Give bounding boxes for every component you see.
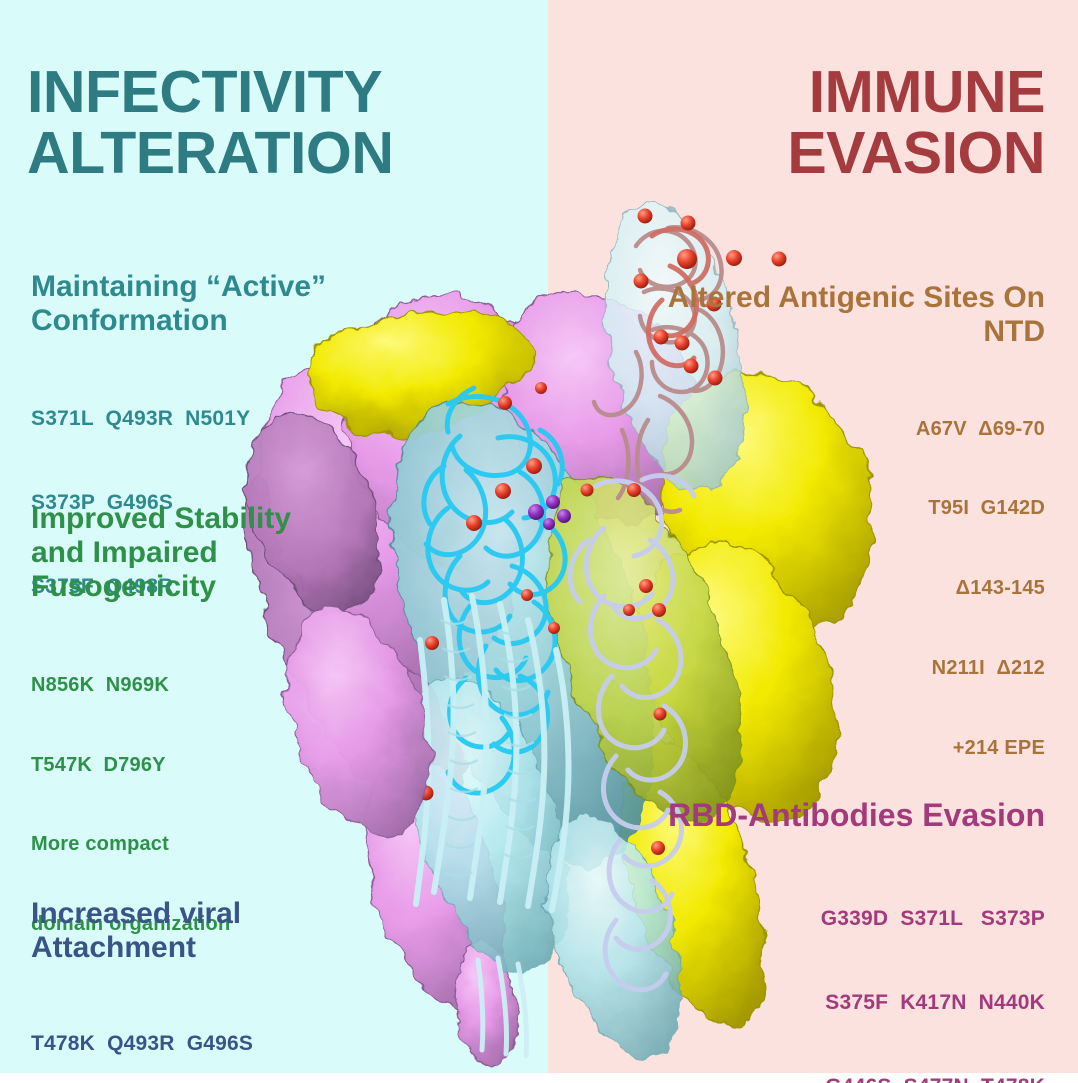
- mutation-line: Δ143-145: [645, 575, 1045, 602]
- mutation-list-increased-viral-attachment: T478K Q493R G496S Q498R N501Y: [31, 974, 351, 1083]
- note-line: More compact: [31, 831, 331, 858]
- block-heading-increased-viral-attachment: Increased viral Attachment: [31, 897, 351, 965]
- mutation-list-rbd-evasion: G339D S371L S373P S375F K417N N440K G446…: [625, 849, 1045, 1083]
- mutation-line: T95I G142D: [645, 495, 1045, 522]
- mutation-line: S371L Q493R N501Y: [31, 405, 431, 433]
- mutation-line: T547K D796Y: [31, 752, 331, 779]
- page-title-immune-evasion: IMMUNE EVASION: [625, 62, 1045, 185]
- mutation-line: N856K N969K: [31, 672, 331, 699]
- mutation-line: +214 EPE: [645, 735, 1045, 762]
- mutation-line: T478K Q493R G496S: [31, 1030, 351, 1058]
- block-rbd-antibodies-evasion: RBD-Antibodies Evasion G339D S371L S373P…: [625, 797, 1045, 1083]
- figure-canvas: INFECTIVITY ALTERATION IMMUNE EVASION Ma…: [0, 0, 1078, 1083]
- block-heading-active-conformation: Maintaining “Active” Conformation: [31, 270, 431, 338]
- block-altered-antigenic-sites-on-ntd: Altered Antigenic Sites On NTD A67V Δ69-…: [645, 281, 1045, 814]
- mutation-list-ntd: A67V Δ69-70 T95I G142D Δ143-145 N211I Δ2…: [645, 362, 1045, 814]
- mutation-line: G446S S477N T478K: [625, 1073, 1045, 1083]
- page-title-infectivity-alteration: INFECTIVITY ALTERATION: [27, 62, 447, 185]
- annotation-text-layer: INFECTIVITY ALTERATION IMMUNE EVASION Ma…: [0, 0, 1078, 1083]
- block-heading-altered-antigenic-sites: Altered Antigenic Sites On NTD: [645, 281, 1045, 349]
- block-increased-viral-attachment: Increased viral Attachment T478K Q493R G…: [31, 897, 351, 1083]
- mutation-line: A67V Δ69-70: [645, 416, 1045, 443]
- mutation-line: G339D S371L S373P: [625, 905, 1045, 933]
- mutation-line: S375F K417N N440K: [625, 989, 1045, 1017]
- block-heading-rbd-antibodies-evasion: RBD-Antibodies Evasion: [625, 797, 1045, 833]
- mutation-line: N211I Δ212: [645, 655, 1045, 682]
- block-heading-stability-fusogenicity: Improved Stability and Impaired Fusogeni…: [31, 502, 331, 605]
